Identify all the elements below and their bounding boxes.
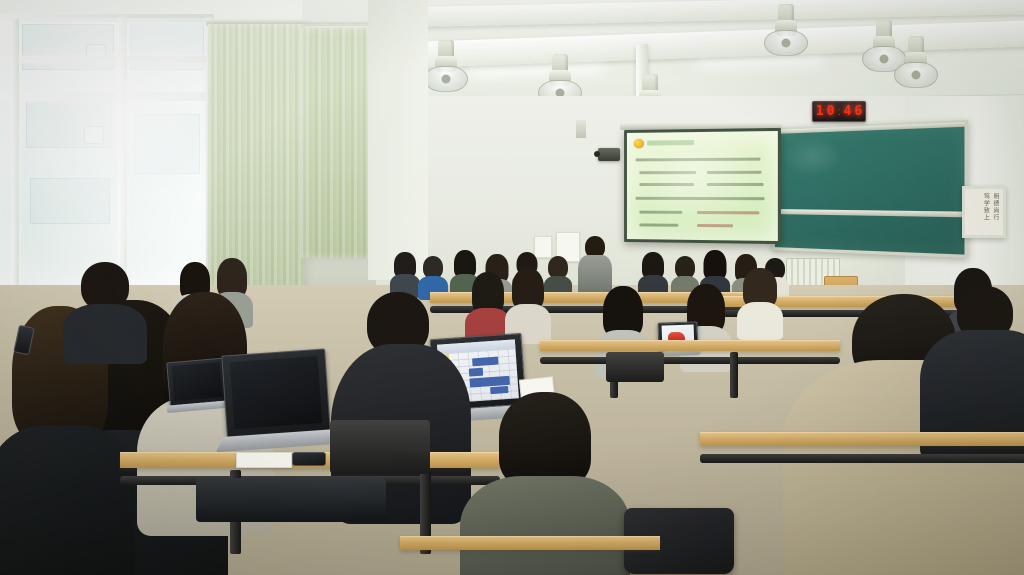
clock-digit-3: 4 <box>844 105 852 118</box>
wall-camera-icon <box>598 148 620 161</box>
student-behind-left <box>70 262 140 352</box>
slide-logo-icon <box>634 139 645 149</box>
chalkboard-rail <box>775 209 965 217</box>
window-frame <box>0 14 214 22</box>
chair-back <box>196 478 386 522</box>
window-mullion <box>118 18 127 286</box>
wall-speaker <box>576 120 586 138</box>
smartphone-on-desk[interactable] <box>292 452 326 466</box>
chalkboard <box>772 120 968 258</box>
chair-back <box>330 420 430 474</box>
calligraphy-column-right: 明德尚行 <box>991 193 998 231</box>
student-mid <box>468 272 508 342</box>
laptop-dark-center-left[interactable] <box>221 348 330 437</box>
window-mullion <box>0 56 214 63</box>
clock-digit-4: 6 <box>854 105 862 118</box>
clock-separator: : <box>837 106 840 118</box>
calligraphy-frame: 明德尚行 笃学致上 <box>962 186 1006 238</box>
curtain-right[interactable] <box>300 28 372 258</box>
window-mullion <box>12 18 19 286</box>
slide-title-bar <box>647 140 694 145</box>
projector-screen <box>624 128 781 244</box>
clock-digit-1: 1 <box>816 105 824 118</box>
led-clock: 1 0 : 4 6 <box>812 101 866 122</box>
desk-row <box>540 340 840 370</box>
laptop-dark-left[interactable] <box>166 358 228 407</box>
calligraphy-column-left: 笃学致上 <box>982 193 989 231</box>
classroom-photo: 多选题练习 1. 建设单位中，以下哪种情况不属于违法转包？（ ） A. 将承包的… <box>0 0 1024 575</box>
clock-digit-2: 0 <box>827 105 835 118</box>
window-mullion <box>0 92 214 101</box>
desk-row-bottom <box>400 536 660 566</box>
chalk-smudge <box>783 134 844 176</box>
student-mid <box>508 268 548 340</box>
side-wall <box>368 0 428 280</box>
student-dark-right <box>930 286 1024 446</box>
student-far <box>545 256 571 296</box>
desk-row-right <box>700 432 1024 466</box>
paper-sheet <box>236 452 292 468</box>
chair-back <box>606 352 664 382</box>
student-mid <box>740 268 780 336</box>
